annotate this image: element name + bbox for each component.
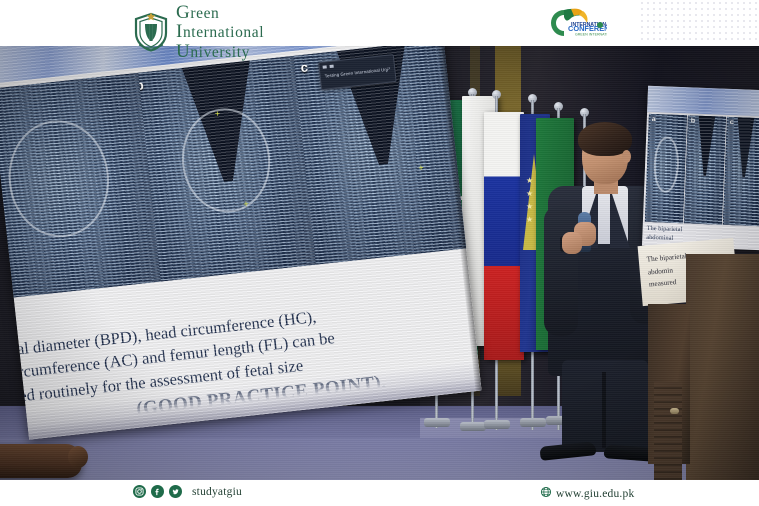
globe-icon bbox=[540, 485, 552, 503]
secondary-display: a b c The biparietal abdominal bbox=[642, 86, 759, 250]
ultrasound-panel: a bbox=[645, 114, 687, 223]
secondary-ultrasound-strip: a b c bbox=[645, 114, 759, 226]
figure-label-c: c bbox=[300, 59, 309, 75]
expand-icon[interactable]: ⤢ bbox=[385, 68, 391, 75]
social-handle: studyatgiu bbox=[192, 486, 242, 498]
twitter-icon[interactable] bbox=[169, 485, 182, 498]
conference-swoosh-icon: INTERNATIONAL CONFERENCE GREEN INTERNATI… bbox=[541, 4, 607, 42]
ultrasound-panel: c bbox=[723, 117, 759, 226]
facebook-icon[interactable] bbox=[151, 485, 164, 498]
projection-screen: b + + c + parietal diameter (BPD), head bbox=[0, 46, 482, 440]
university-brand: Green International University bbox=[133, 3, 264, 61]
maximize-icon[interactable] bbox=[329, 64, 333, 67]
flag-base bbox=[484, 420, 510, 429]
figure-label: b bbox=[691, 117, 696, 124]
figure-label: c bbox=[730, 119, 734, 126]
left-shoe bbox=[539, 441, 596, 461]
lectern: The biparietal abdomin measured bbox=[648, 242, 759, 480]
ultrasound-figure-strip: b + + c + bbox=[0, 46, 471, 298]
slide-surface: b + + c + parietal diameter (BPD), head bbox=[0, 46, 482, 440]
brand-line-1: Green bbox=[176, 3, 264, 22]
ultrasound-panel: b bbox=[684, 115, 726, 224]
ear bbox=[622, 150, 631, 163]
left-arm bbox=[544, 206, 578, 336]
brand-line-2: International bbox=[176, 22, 264, 41]
trouser-gap bbox=[602, 372, 606, 448]
dot-pattern-decoration bbox=[639, 0, 759, 44]
ultrasound-panel-b: b + + bbox=[138, 56, 316, 282]
social-links: studyatgiu bbox=[133, 485, 242, 498]
university-name: Green International University bbox=[176, 3, 264, 61]
left-hand bbox=[562, 232, 582, 254]
svg-text:GREEN INTERNATIONAL: GREEN INTERNATIONAL bbox=[575, 33, 607, 37]
lectern-vent-grille bbox=[654, 382, 682, 480]
brand-line-3: University bbox=[176, 42, 264, 61]
secondary-display-header-band bbox=[647, 86, 759, 117]
minimize-icon[interactable] bbox=[322, 65, 326, 68]
caliper-marker-icon: + bbox=[418, 164, 426, 172]
website-link[interactable]: www.giu.edu.pk bbox=[540, 485, 634, 503]
lectern-side-panel bbox=[648, 304, 690, 464]
russia-flag bbox=[484, 112, 524, 360]
event-photograph: ★★★★ bbox=[0, 46, 759, 480]
lectern-knob bbox=[670, 408, 679, 414]
website-url: www.giu.edu.pk bbox=[556, 488, 634, 500]
footer-bar: studyatgiu www.giu.edu.pk bbox=[0, 480, 759, 506]
figure-label: a bbox=[652, 116, 656, 123]
lectern-front-panel bbox=[686, 254, 759, 480]
instagram-icon[interactable] bbox=[133, 485, 146, 498]
projection-screen-wrapper: b + + c + parietal diameter (BPD), head bbox=[0, 46, 490, 469]
shield-crest-icon bbox=[133, 12, 169, 52]
header-bar: Green International University INTERNATI… bbox=[0, 0, 759, 46]
caliper-marker-icon: + bbox=[215, 110, 223, 118]
flag-base bbox=[460, 422, 486, 431]
presentation-photo-card: Green International University INTERNATI… bbox=[0, 0, 759, 506]
ultrasound-panel-a bbox=[0, 73, 161, 299]
chair-armrest bbox=[0, 444, 82, 478]
caliper-marker-icon: + bbox=[243, 200, 251, 208]
